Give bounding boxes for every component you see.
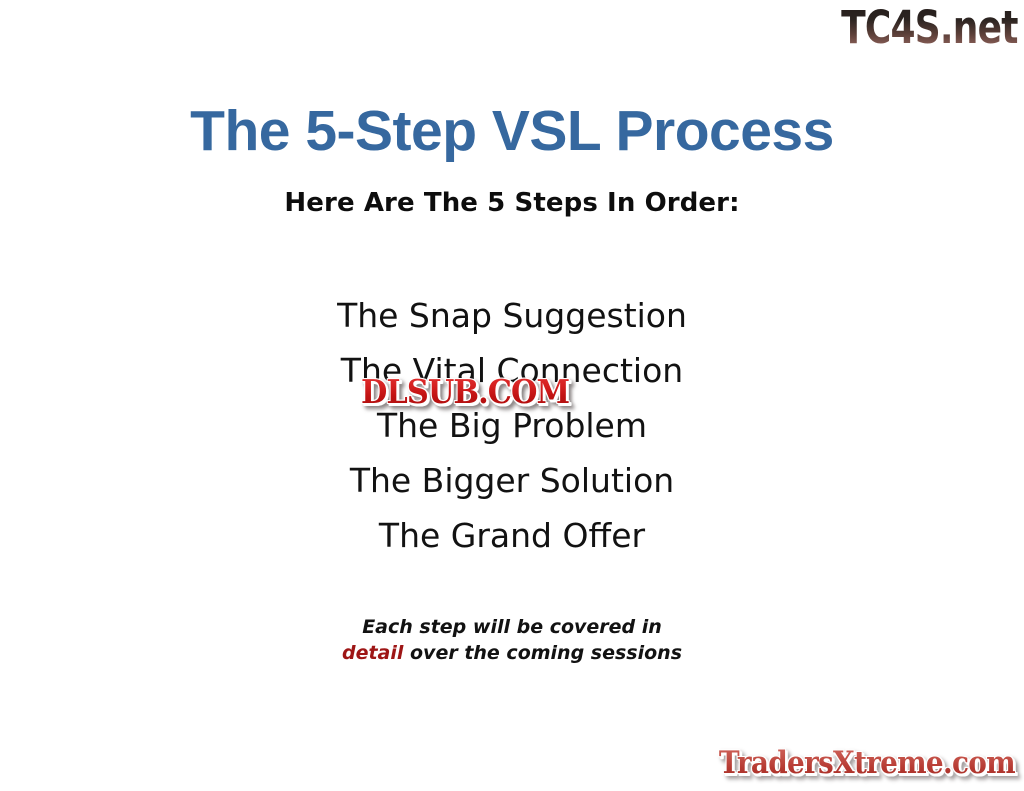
footnote-line-2-rest: over the coming sessions [403, 642, 682, 664]
page-title: The 5-Step VSL Process [0, 99, 1024, 163]
slide-canvas: TC4S.net The 5-Step VSL Process Here Are… [0, 0, 1024, 791]
steps-list: The Snap Suggestion The Vital Connection… [0, 288, 1024, 563]
list-item: The Bigger Solution [0, 453, 1024, 508]
dlsub-watermark: DLSUB.COM [361, 374, 569, 410]
footnote: Each step will be covered in detail over… [0, 614, 1024, 666]
footnote-line-2: detail over the coming sessions [0, 640, 1024, 666]
list-item: The Grand Offer [0, 508, 1024, 563]
list-item: The Snap Suggestion [0, 288, 1024, 343]
footnote-accent-word: detail [342, 642, 403, 664]
tc4s-logo: TC4S.net [842, 2, 1018, 54]
tradersxtreme-logo: TradersXtreme.com [719, 743, 1015, 783]
page-subtitle: Here Are The 5 Steps In Order: [0, 186, 1024, 220]
footnote-line-1: Each step will be covered in [0, 614, 1024, 640]
